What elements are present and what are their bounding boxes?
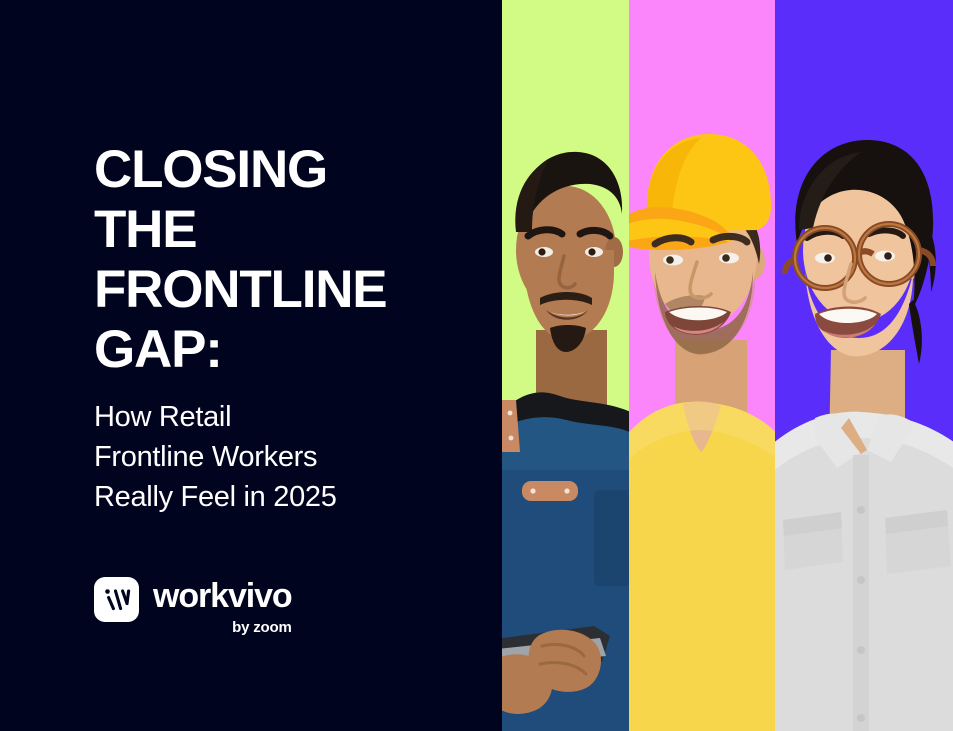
workvivo-tagline: by zoom bbox=[153, 620, 292, 635]
stripe-green bbox=[502, 0, 629, 731]
stripe-purple bbox=[775, 0, 953, 731]
page-title: CLOSING THE FRONTLINE GAP: bbox=[94, 140, 484, 380]
cover-page: CLOSING THE FRONTLINE GAP: How Retail Fr… bbox=[0, 0, 953, 731]
workvivo-logo-text: workvivo by zoom bbox=[153, 577, 292, 635]
stripe-pink bbox=[629, 0, 775, 731]
person-cap-worker bbox=[629, 0, 775, 731]
left-dark-panel: CLOSING THE FRONTLINE GAP: How Retail Fr… bbox=[0, 0, 502, 731]
person-apron-worker bbox=[502, 0, 629, 731]
workvivo-wordmark: workvivo bbox=[153, 579, 292, 613]
workvivo-logo: workvivo by zoom bbox=[94, 577, 292, 635]
page-subtitle: How Retail Frontline Workers Really Feel… bbox=[94, 397, 454, 517]
photo-stripes bbox=[502, 0, 953, 731]
workvivo-logo-mark-icon bbox=[94, 577, 139, 622]
person-glasses-worker bbox=[775, 0, 953, 731]
